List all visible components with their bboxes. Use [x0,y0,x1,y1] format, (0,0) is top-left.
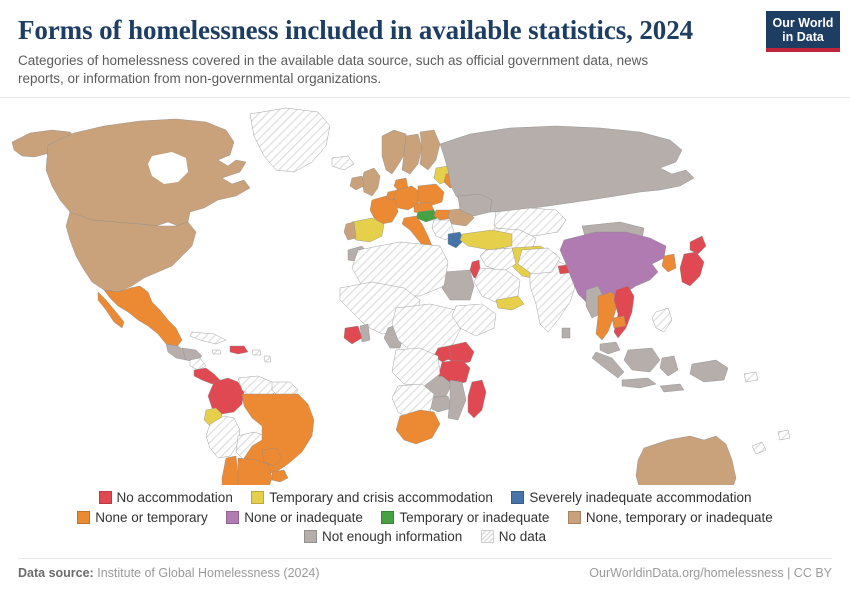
country-madagascar[interactable] [468,380,486,418]
owid-logo-line1: Our World [766,16,840,30]
country-uruguay[interactable] [272,470,288,482]
legend-swatch-temporary-or-inadequate [381,511,394,524]
legend-swatch-none-temporary-or-inadequate [568,511,581,524]
legend-item-severely-inadequate-accommodation[interactable]: Severely inadequate accommodation [511,488,751,507]
country-solomon-islands[interactable] [744,372,758,382]
legend-row-1: No accommodation Temporary and crisis ac… [0,488,850,507]
country-china[interactable] [560,232,666,304]
country-malaysia[interactable] [600,342,620,354]
legend-swatch-not-enough-information [304,530,317,543]
legend-label-no-data: No data [499,527,546,546]
country-turkey[interactable] [460,230,512,250]
country-guatemala[interactable] [166,344,186,360]
country-greenland[interactable] [250,108,330,172]
world-choropleth-map[interactable] [0,100,850,485]
chart-footer: Data source: Institute of Global Homeles… [0,566,850,580]
country-japan[interactable] [690,236,706,254]
country-egypt[interactable] [442,270,474,300]
map-legend: No accommodation Temporary and crisis ac… [0,488,850,546]
country-chile[interactable] [222,456,240,485]
country-borneo[interactable] [624,348,660,372]
legend-item-none-or-inadequate[interactable]: None or inadequate [226,508,363,527]
legend-row-2: None or temporary None or inadequate Tem… [0,507,850,526]
country-finland[interactable] [420,130,440,170]
country-lesser-antilles[interactable] [264,356,271,362]
country-philippines[interactable] [652,308,672,332]
owid-logo-line2: in Data [766,30,840,44]
country-iceland[interactable] [332,156,354,170]
country-fiji[interactable] [778,430,790,440]
country-sulawesi[interactable] [660,356,678,376]
legend-label-no-accommodation: No accommodation [117,488,233,507]
chart-header: Forms of homelessness included in availa… [0,0,850,88]
legend-label-none-or-inadequate: None or inadequate [244,508,363,527]
legend-item-no-data[interactable]: No data [481,527,546,546]
country-canada[interactable] [46,119,250,226]
country-united-kingdom[interactable] [362,168,380,196]
legend-label-temporary-or-inadequate: Temporary or inadequate [399,508,549,527]
country-togo[interactable] [360,324,370,342]
legend-swatch-no-accommodation [99,491,112,504]
legend-label-temporary-and-crisis-accommodation: Temporary and crisis accommodation [269,488,493,507]
owid-logo[interactable]: Our World in Data [766,11,840,52]
footer-divider [18,558,832,559]
data-source: Data source: Institute of Global Homeles… [18,566,320,580]
legend-item-not-enough-information[interactable]: Not enough information [304,527,462,546]
country-japan-honshu[interactable] [680,252,704,286]
country-java[interactable] [622,378,656,388]
country-south-korea[interactable] [662,254,676,272]
country-cambodia[interactable] [612,316,626,328]
country-new-caledonia[interactable] [752,442,766,454]
data-source-label: Data source: [18,566,94,580]
country-sumatra[interactable] [592,352,624,378]
legend-label-none-temporary-or-inadequate: None, temporary or inadequate [586,508,773,527]
legend-label-none-or-temporary: None or temporary [95,508,208,527]
legend-swatch-none-or-temporary [77,511,90,524]
legend-swatch-no-data [481,530,494,543]
legend-swatch-none-or-inadequate [226,511,239,524]
data-source-value: Institute of Global Homelessness (2024) [97,566,319,580]
country-south-africa[interactable] [396,410,440,444]
page-subtitle: Categories of homelessness covered in th… [18,52,832,88]
legend-label-severely-inadequate-accommodation: Severely inadequate accommodation [529,488,751,507]
country-sri-lanka[interactable] [562,328,570,338]
legend-item-none-or-temporary[interactable]: None or temporary [77,508,208,527]
country-ghana[interactable] [344,326,362,344]
country-portugal[interactable] [344,222,356,240]
header-divider [0,97,850,98]
page-title: Forms of homelessness included in availa… [18,14,832,46]
legend-item-temporary-or-inadequate[interactable]: Temporary or inadequate [381,508,549,527]
attribution-link[interactable]: OurWorldinData.org/homelessness | CC BY [589,566,832,580]
country-puerto-rico[interactable] [252,350,261,355]
country-australia[interactable] [636,436,736,485]
country-cuba[interactable] [190,332,226,344]
legend-row-3: Not enough information No data [0,527,850,546]
country-mozambique[interactable] [448,380,466,420]
legend-item-none-temporary-or-inadequate[interactable]: None, temporary or inadequate [568,508,773,527]
legend-item-no-accommodation[interactable]: No accommodation [99,488,233,507]
map-svg [0,100,850,485]
country-papua-new-guinea[interactable] [690,360,728,382]
country-poland[interactable] [418,184,444,206]
legend-item-temporary-and-crisis-accommodation[interactable]: Temporary and crisis accommodation [251,488,493,507]
country-vietnam[interactable] [614,286,634,338]
country-ireland[interactable] [350,176,364,190]
legend-swatch-temporary-and-crisis-accommodation [251,491,264,504]
country-hispaniola[interactable] [230,346,248,354]
legend-label-not-enough-information: Not enough information [322,527,462,546]
country-jamaica[interactable] [212,350,221,354]
country-lesser-sunda[interactable] [660,384,684,392]
legend-swatch-severely-inadequate-accommodation [511,491,524,504]
